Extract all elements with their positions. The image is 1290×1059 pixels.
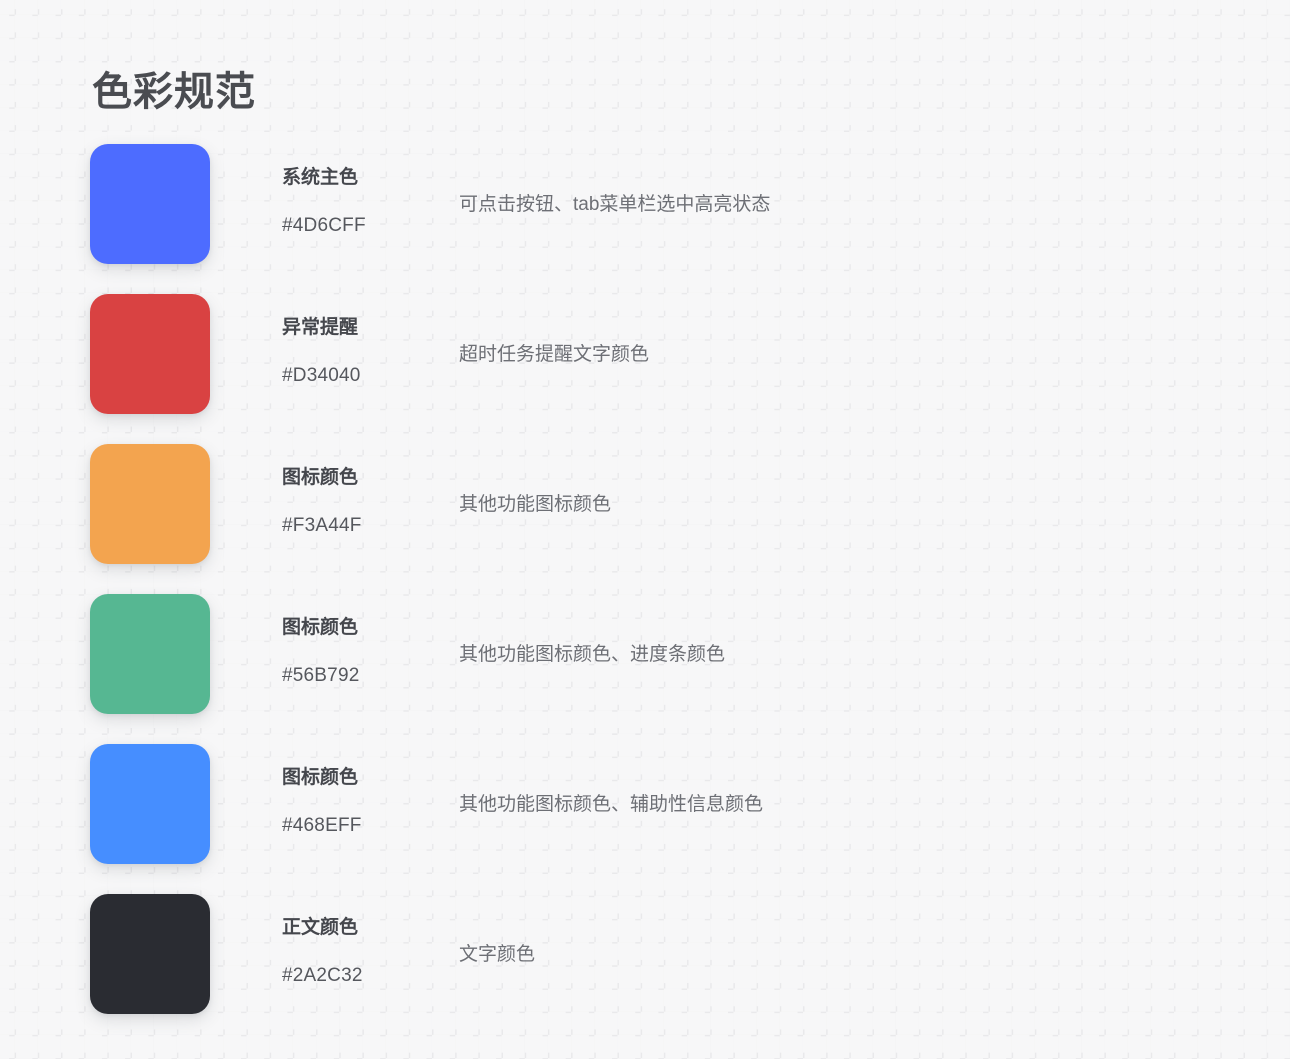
color-swatch-hex-value: #4D6CFF bbox=[282, 214, 452, 239]
color-swatch-meta: 图标颜色 #56B792 bbox=[282, 616, 452, 688]
color-swatch-row: 系统主色 #4D6CFF 可点击按钮、tab菜单栏选中高亮状态 bbox=[0, 144, 1290, 294]
color-swatch-row: 图标颜色 #468EFF 其他功能图标颜色、辅助性信息颜色 bbox=[0, 744, 1290, 894]
color-swatch-meta: 异常提醒 #D34040 bbox=[282, 316, 452, 388]
color-swatch-chip[interactable] bbox=[90, 144, 210, 264]
color-swatch-description: 文字颜色 bbox=[459, 942, 535, 969]
color-swatch-name: 正文颜色 bbox=[282, 916, 452, 941]
color-swatch-meta: 图标颜色 #F3A44F bbox=[282, 466, 452, 538]
color-swatch-hex-value: #468EFF bbox=[282, 814, 452, 839]
color-swatch-description: 其他功能图标颜色 bbox=[459, 492, 611, 519]
color-swatch-chip[interactable] bbox=[90, 594, 210, 714]
color-swatch-chip[interactable] bbox=[90, 744, 210, 864]
color-swatch-chip[interactable] bbox=[90, 894, 210, 1014]
color-swatch-list: 系统主色 #4D6CFF 可点击按钮、tab菜单栏选中高亮状态 异常提醒 #D3… bbox=[0, 144, 1290, 1044]
color-swatch-hex-value: #56B792 bbox=[282, 664, 452, 689]
color-swatch-meta: 图标颜色 #468EFF bbox=[282, 766, 452, 838]
color-swatch-row: 图标颜色 #F3A44F 其他功能图标颜色 bbox=[0, 444, 1290, 594]
color-swatch-name: 图标颜色 bbox=[282, 616, 452, 641]
color-swatch-meta: 正文颜色 #2A2C32 bbox=[282, 916, 452, 988]
color-swatch-name: 图标颜色 bbox=[282, 466, 452, 491]
color-swatch-row: 异常提醒 #D34040 超时任务提醒文字颜色 bbox=[0, 294, 1290, 444]
color-swatch-chip[interactable] bbox=[90, 294, 210, 414]
color-swatch-description: 超时任务提醒文字颜色 bbox=[459, 342, 649, 369]
color-swatch-chip[interactable] bbox=[90, 444, 210, 564]
color-swatch-hex-value: #F3A44F bbox=[282, 514, 452, 539]
page-title: 色彩规范 bbox=[92, 68, 256, 116]
color-swatch-description: 其他功能图标颜色、进度条颜色 bbox=[459, 642, 725, 669]
color-swatch-description: 可点击按钮、tab菜单栏选中高亮状态 bbox=[459, 192, 770, 219]
color-swatch-hex-value: #D34040 bbox=[282, 364, 452, 389]
color-swatch-description: 其他功能图标颜色、辅助性信息颜色 bbox=[459, 792, 763, 819]
color-swatch-name: 异常提醒 bbox=[282, 316, 452, 341]
color-specification-page: 色彩规范 系统主色 #4D6CFF 可点击按钮、tab菜单栏选中高亮状态 异常提… bbox=[0, 0, 1290, 1059]
color-swatch-meta: 系统主色 #4D6CFF bbox=[282, 166, 452, 238]
color-swatch-name: 系统主色 bbox=[282, 166, 452, 191]
color-swatch-name: 图标颜色 bbox=[282, 766, 452, 791]
color-swatch-hex-value: #2A2C32 bbox=[282, 964, 452, 989]
color-swatch-row: 正文颜色 #2A2C32 文字颜色 bbox=[0, 894, 1290, 1044]
color-swatch-row: 图标颜色 #56B792 其他功能图标颜色、进度条颜色 bbox=[0, 594, 1290, 744]
